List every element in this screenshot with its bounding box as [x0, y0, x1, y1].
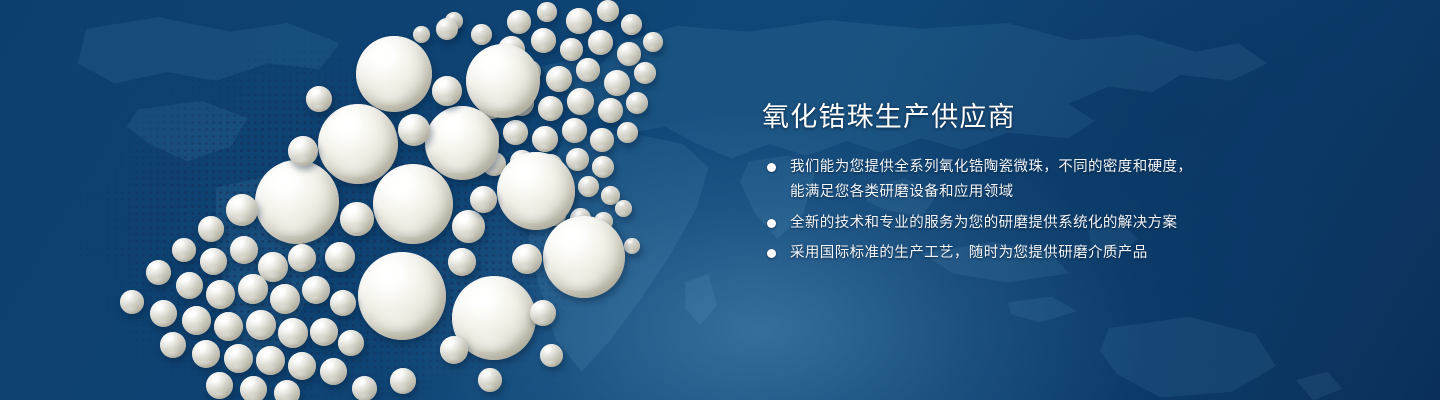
list-item: 全新的技术和专业的服务为您的研磨提供系统化的解决方案: [762, 211, 1232, 235]
list-item-line-2: 能满足您各类研磨设备和应用领域: [790, 180, 1232, 205]
list-item-line-1: 采用国际标准的生产工艺，随时为您提供研磨介质产品: [790, 241, 1232, 265]
page-title: 氧化锆珠生产供应商: [762, 98, 1232, 138]
hero-banner: 氧化锆珠生产供应商 我们能为您提供全系列氧化锆陶瓷微珠，不同的密度和硬度， 能满…: [0, 0, 1440, 400]
banner-copy: 氧化锆珠生产供应商 我们能为您提供全系列氧化锆陶瓷微珠，不同的密度和硬度， 能满…: [762, 98, 1232, 265]
list-item: 我们能为您提供全系列氧化锆陶瓷微珠，不同的密度和硬度， 能满足您各类研磨设备和应…: [762, 155, 1232, 205]
bullet-dot-icon: [767, 219, 776, 228]
bullet-dot-icon: [767, 249, 776, 258]
list-item: 采用国际标准的生产工艺，随时为您提供研磨介质产品: [762, 241, 1232, 265]
list-item-line-1: 我们能为您提供全系列氧化锆陶瓷微珠，不同的密度和硬度，: [790, 155, 1232, 180]
bullet-dot-icon: [767, 163, 776, 172]
benefit-list: 我们能为您提供全系列氧化锆陶瓷微珠，不同的密度和硬度， 能满足您各类研磨设备和应…: [762, 155, 1232, 265]
halftone-dot-pattern: [0, 0, 720, 400]
list-item-line-1: 全新的技术和专业的服务为您的研磨提供系统化的解决方案: [790, 211, 1232, 235]
